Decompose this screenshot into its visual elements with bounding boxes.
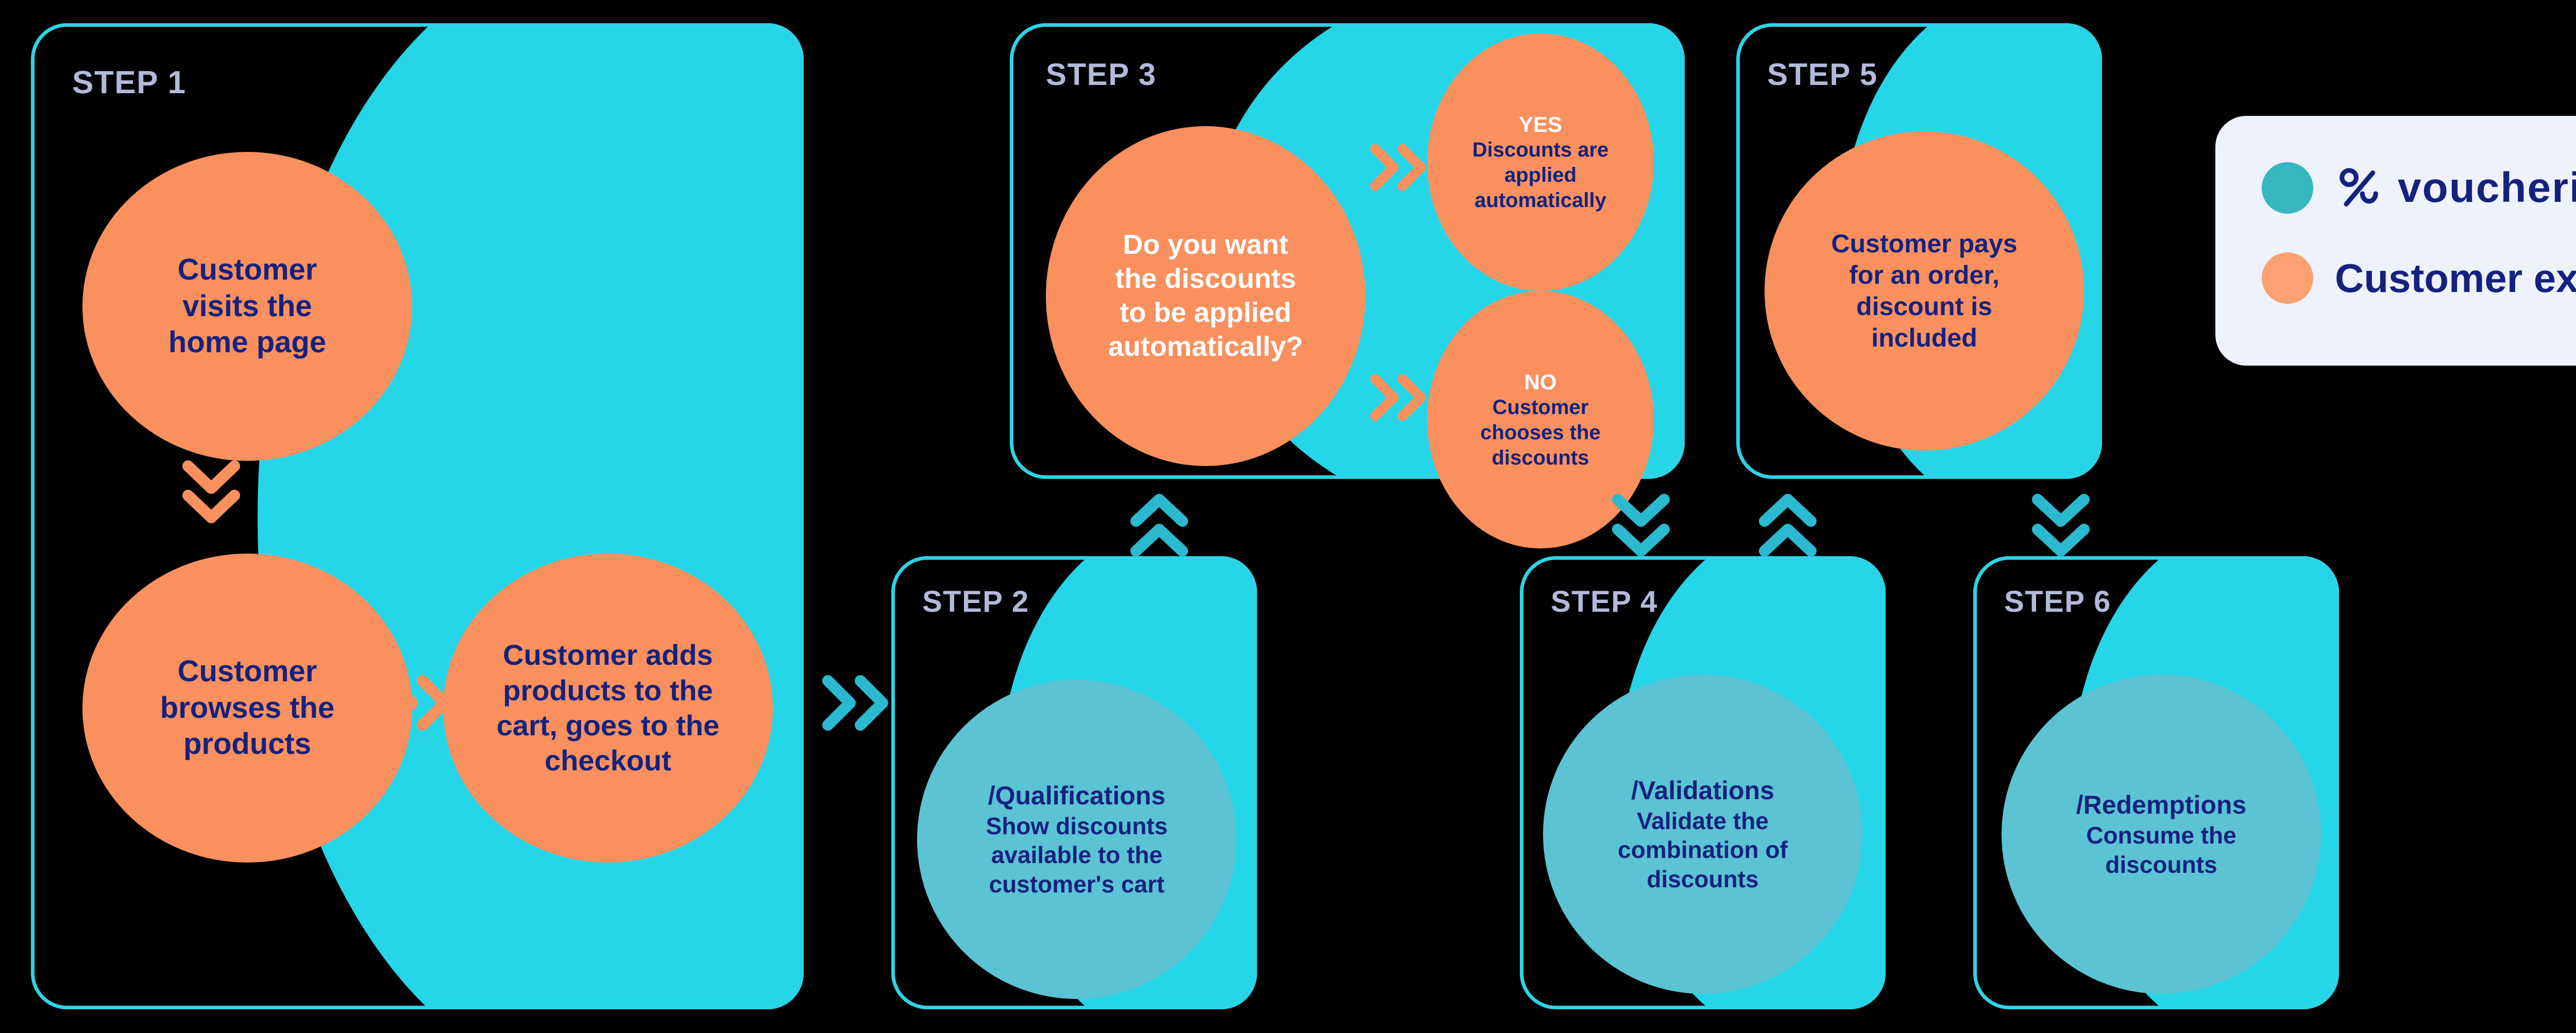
step-card-3-label: STEP 3 [1046,57,1157,92]
bubble-answer-yes: YES Discounts are applied automatically [1427,33,1654,291]
bubble-customer-browses-products: Customer browses the products [82,554,412,863]
bubble-line: Do you want [1108,228,1303,262]
legend-label-customer-experience: Customer experience [2335,255,2576,302]
bubble-line: checkout [497,743,720,778]
bubble-line: Discounts are [1472,137,1609,163]
step-1-border [31,23,804,1009]
bubble-line: discount is [1831,291,2017,322]
bubble-customer-pays-for-order: Customer pays for an order, discount is … [1765,131,2084,451]
bubble-line: automatically [1472,188,1609,213]
bubble-line: combination of [1618,835,1788,864]
bubble-line: automatically? [1108,330,1303,364]
bubble-line: visits the [168,288,326,325]
bubble-line: applied [1472,163,1609,188]
voucherify-brandmark: voucherify [2335,164,2576,212]
bubble-line: browses the [160,690,334,727]
bubble-auto-discount-question: Do you want the discounts to be applied … [1046,126,1365,466]
bubble-customer-visits-home-page: Customer visits the home page [82,152,412,461]
legend-dot-customer-experience [2262,252,2313,304]
step-card-5-label: STEP 5 [1767,57,1878,92]
bubble-line: Customer adds [497,638,720,673]
percent-icon [2335,164,2382,212]
bubble-line: Validate the [1618,806,1788,835]
bubble-api-title: /Qualifications [986,780,1168,812]
step-card-3: STEP 3 Do you want the discounts to be a… [1010,23,1685,479]
double-chevron-right-icon [817,669,894,736]
step-card-4: STEP 4 /Validations Validate the combina… [1520,556,1886,1009]
step-card-5: STEP 5 Customer pays for an order, disco… [1736,23,2102,479]
double-chevron-right-icon [1365,139,1430,196]
bubble-line: discounts [1480,445,1600,471]
bubble-customer-adds-products-to-cart: Customer adds products to the cart, goes… [443,554,773,863]
bubble-line: Show discounts [986,812,1168,840]
diagram-canvas: STEP 1 Customer visits the home page Cus… [0,0,2576,1033]
double-chevron-up-icon [1123,489,1195,561]
bubble-api-title: /Validations [1618,775,1788,806]
bubble-line: discounts [1618,865,1788,893]
connector-question-to-yes [1365,139,1430,196]
bubble-line: customer's cart [986,870,1168,899]
double-chevron-right-icon [379,669,456,736]
step-card-2-label: STEP 2 [922,584,1029,619]
bubble-line: included [1831,322,2017,354]
double-chevron-down-icon [1605,489,1677,561]
bubble-line: Customer pays [1831,228,2017,260]
bubble-answer-title: YES [1472,111,1609,137]
double-chevron-down-icon [2025,489,2097,561]
connector-browse-to-cart [379,669,456,736]
legend-panel: voucherify Customer experience [2215,116,2576,366]
legend-item-customer-experience: Customer experience [2262,252,2576,304]
connector-visits-to-browses [175,453,247,530]
step-card-6-label: STEP 6 [2004,584,2111,619]
bubble-line: Consume the [2076,821,2247,850]
step-card-6: STEP 6 /Redemptions Consume the discount… [1973,556,2339,1009]
legend-item-voucherify: voucherify [2262,162,2576,214]
legend-label-voucherify: voucherify [2398,164,2576,212]
connector-question-to-no [1365,369,1430,426]
bubble-line: Customer [168,252,326,288]
bubble-line: home page [168,324,326,361]
bubble-qualifications: /Qualifications Show discounts available… [917,680,1236,999]
connector-step1-to-step2 [817,669,894,736]
double-chevron-down-icon [175,453,247,530]
bubble-line: cart, goes to the [497,708,720,743]
connector-step4-to-step5 [1752,489,1824,561]
connector-step2-to-step3 [1123,489,1195,561]
bubble-line: Customer [160,653,334,690]
bubble-line: products [160,726,334,763]
bubble-line: to be applied [1108,296,1303,330]
bubble-line: chooses the [1480,420,1600,445]
step-card-2: STEP 2 /Qualifications Show discounts av… [891,556,1257,1009]
bubble-line: discounts [2076,850,2247,879]
legend-dot-voucherify [2262,162,2313,214]
double-chevron-right-icon [1365,369,1430,426]
step-card-1: STEP 1 Customer visits the home page Cus… [31,23,804,1009]
connector-step5-to-step6 [2025,489,2097,561]
bubble-line: the discounts [1108,262,1303,296]
step-card-1-label: STEP 1 [72,64,187,101]
bubble-redemptions: /Redemptions Consume the discounts [2002,675,2321,994]
step-card-4-label: STEP 4 [1551,584,1658,619]
bubble-line: for an order, [1831,260,2017,291]
bubble-validations: /Validations Validate the combination of… [1543,675,1862,994]
bubble-api-title: /Redemptions [2076,789,2247,821]
bubble-line: products to the [497,673,720,708]
bubble-line: Customer [1480,395,1600,420]
double-chevron-up-icon [1752,489,1824,561]
bubble-answer-title: NO [1480,369,1600,395]
bubble-line: available to the [986,840,1168,869]
connector-step3-to-step4 [1605,489,1677,561]
